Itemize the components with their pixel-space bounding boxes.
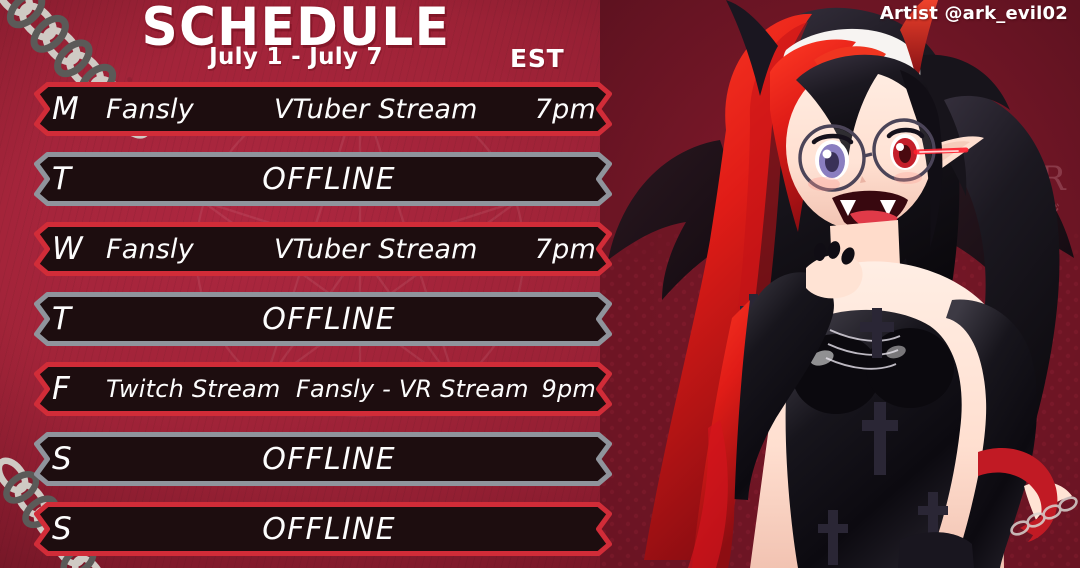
row-cells: OFFLINE xyxy=(106,442,596,477)
row-cells: OFFLINE xyxy=(106,512,596,547)
description-label: VTuber Stream xyxy=(274,234,529,265)
row-content: M Fansly VTuber Stream 7pm xyxy=(34,82,612,136)
row-cells: Twitch Stream Fansly - VR Stream 9pm xyxy=(106,375,596,403)
row-content: S OFFLINE xyxy=(34,432,612,486)
schedule-row-2[interactable]: W Fansly VTuber Stream 7pm xyxy=(34,222,612,276)
schedule-row-1[interactable]: T OFFLINE xyxy=(34,152,612,206)
schedule-row-4[interactable]: F Twitch Stream Fansly - VR Stream 9pm xyxy=(34,362,612,416)
day-label: F xyxy=(52,371,106,407)
schedule-row-3[interactable]: T OFFLINE xyxy=(34,292,612,346)
day-label: T xyxy=(52,161,106,197)
platform-label: Fansly xyxy=(106,94,274,125)
day-label: S xyxy=(52,441,106,477)
day-label: S xyxy=(52,511,106,547)
row-content: S OFFLINE xyxy=(34,502,612,556)
time-label: 9pm xyxy=(536,375,596,403)
row-content: F Twitch Stream Fansly - VR Stream 9pm xyxy=(34,362,612,416)
platform-label: Twitch Stream xyxy=(106,375,296,403)
row-cells: Fansly VTuber Stream 7pm xyxy=(106,94,596,125)
description-label: OFFLINE xyxy=(262,512,395,547)
day-label: M xyxy=(52,91,106,127)
day-label: W xyxy=(52,231,106,267)
day-label: T xyxy=(52,301,106,337)
schedule-list: M Fansly VTuber Stream 7pm T OFFLINE xyxy=(34,82,612,568)
description-label: Fansly - VR Stream xyxy=(296,375,536,403)
row-cells: OFFLINE xyxy=(106,162,596,197)
description-label: OFFLINE xyxy=(262,302,395,337)
time-label: 7pm xyxy=(529,94,596,125)
platform-label: Fansly xyxy=(106,234,274,265)
row-cells: Fansly VTuber Stream 7pm xyxy=(106,234,596,265)
description-label: OFFLINE xyxy=(262,162,395,197)
row-content: W Fansly VTuber Stream 7pm xyxy=(34,222,612,276)
row-content: T OFFLINE xyxy=(34,292,612,346)
row-content: T OFFLINE xyxy=(34,152,612,206)
header: SCHEDULE July 1 - July 7 EST xyxy=(0,0,620,78)
schedule-row-6[interactable]: S OFFLINE xyxy=(34,502,612,556)
schedule-poster: R ジ xyxy=(0,0,1080,568)
schedule-row-0[interactable]: M Fansly VTuber Stream 7pm xyxy=(34,82,612,136)
row-cells: OFFLINE xyxy=(106,302,596,337)
artist-credit: Artist @ark_evil02 xyxy=(880,3,1068,24)
description-label: VTuber Stream xyxy=(274,94,529,125)
demon-vtuber-illustration: R ジ xyxy=(600,0,1080,568)
schedule-row-5[interactable]: S OFFLINE xyxy=(34,432,612,486)
timezone-label: EST xyxy=(510,44,565,73)
time-label: 7pm xyxy=(529,234,596,265)
description-label: OFFLINE xyxy=(262,442,395,477)
